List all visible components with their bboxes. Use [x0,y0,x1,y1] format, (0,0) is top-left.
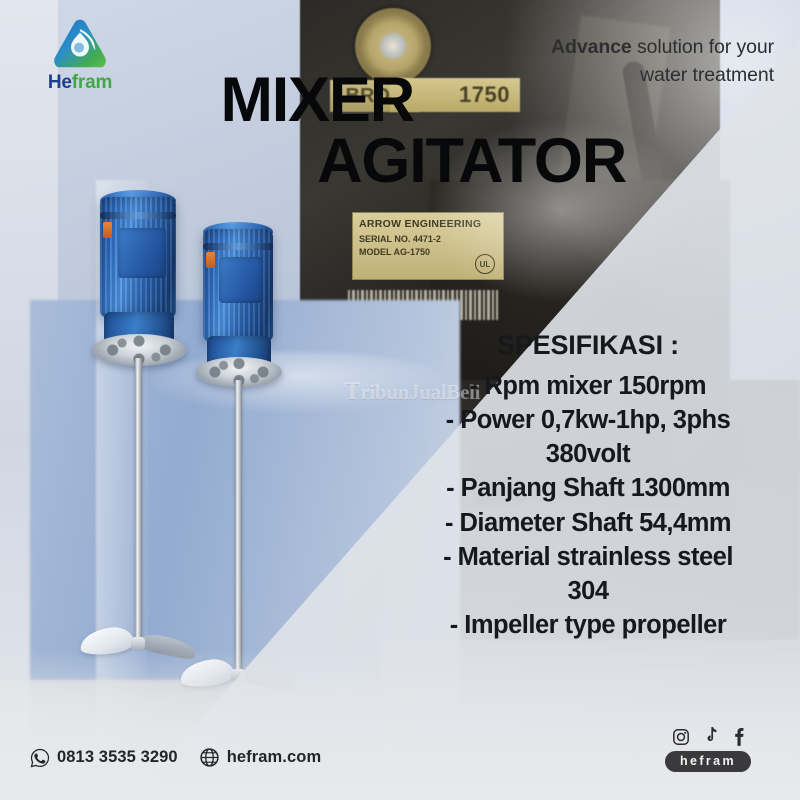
shaft-large [135,358,142,648]
background-equipment-label-sub2: MODEL AG-1750 [359,247,430,257]
page-title-line-2: AGITATOR [0,131,626,192]
hefram-triangle-droplet-logo [51,18,109,70]
spec-item: - Diameter Shaft 54,4mm [392,507,784,539]
facebook-icon[interactable] [733,727,745,746]
spec-item: - Power 0,7kw-1hp, 3phs [392,404,784,436]
spec-item: - Rpm mixer 150rpm [392,370,784,402]
spec-item: - Impeller type propeller [392,609,784,641]
shaft-small [235,380,242,680]
tagline-bold-word: Advance [551,36,632,58]
terminal-box-large [118,228,166,278]
instagram-icon[interactable] [672,728,690,746]
whatsapp-icon [30,748,50,768]
spec-item: - Material strainless steel [392,541,784,573]
social-group: hefram [652,727,764,772]
whatsapp-contact[interactable]: 0813 3535 3290 [30,748,178,768]
page-title: MIXER AGITATOR [0,70,626,192]
website-url: hefram.com [227,748,322,767]
whatsapp-phone-number: 0813 3535 3290 [57,748,178,767]
tiktok-icon[interactable] [703,727,720,746]
motor-tag-small [206,252,215,268]
footer-contact-group: 0813 3535 3290 hefram.com [30,747,321,768]
tagline-line-1-rest: solution for your [632,36,774,58]
terminal-box-small [219,257,263,303]
specifications-block: SPESIFIKASI : - Rpm mixer 150rpm - Power… [392,330,784,643]
social-icon-row [652,727,764,746]
spec-item: 380volt [392,438,784,470]
spec-item: 304 [392,575,784,607]
footer-background-wash-left [0,680,240,800]
specifications-heading: SPESIFIKASI : [392,330,784,361]
social-handle-pill: hefram [665,751,751,772]
website-contact[interactable]: hefram.com [199,747,322,768]
poster-canvas: BROD 1750 ARROW ENGINEERING SERIAL NO. 4… [0,0,800,800]
impeller-hub-large [131,637,145,650]
globe-icon [199,747,220,768]
motor-band-small [203,243,273,250]
motor-band-large [100,212,176,219]
page-title-line-1: MIXER [0,70,626,131]
background-equipment-label-sub: SERIAL NO. 4471-2 [359,234,441,244]
spec-item: - Panjang Shaft 1300mm [392,472,784,504]
tagline-line-1: Advance solution for your [551,34,774,62]
motor-tag-large [103,222,112,238]
